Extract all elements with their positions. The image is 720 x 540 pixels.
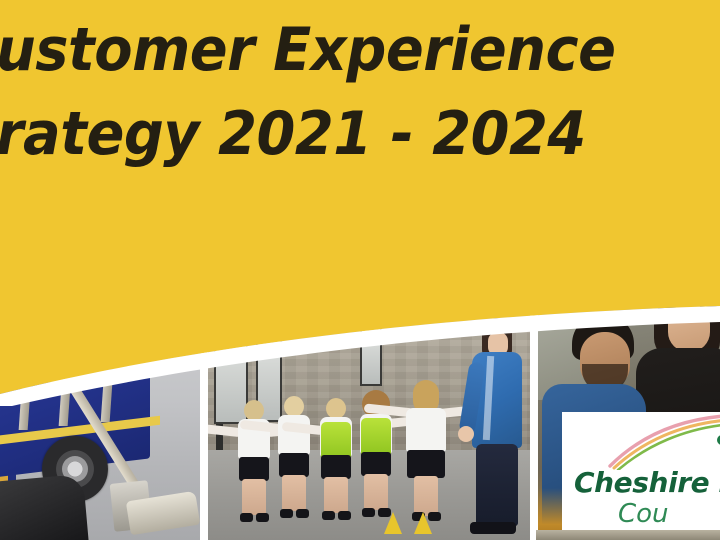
child-shorts (321, 455, 351, 479)
child-shorts (279, 453, 309, 477)
council-swoosh-icon (604, 414, 720, 470)
child-figure (398, 380, 454, 526)
teacher-figure (468, 318, 524, 536)
logo-line-1: Cheshire E (574, 468, 720, 498)
traffic-cone (384, 512, 402, 534)
child-legs (242, 479, 266, 515)
photo-school-children (208, 300, 530, 540)
child-shirt (278, 415, 310, 455)
teacher-shoes (470, 522, 516, 534)
photo-street-cleaning (0, 300, 200, 540)
child-shoe-right (338, 511, 351, 520)
child-shorts (407, 450, 445, 478)
child-head (326, 398, 346, 419)
photo-divider-left (200, 300, 208, 540)
child-shirt (406, 408, 446, 452)
child-legs (282, 475, 306, 511)
cheshire-east-council-logo: Cheshire E Cou (562, 412, 720, 532)
street-cleaner-figure (0, 474, 89, 540)
traffic-cone (414, 512, 432, 534)
child-shorts (239, 457, 269, 481)
child-shoe-right (296, 509, 309, 518)
child-shoe-left (280, 509, 293, 518)
child-shoe-right (256, 513, 269, 522)
child-legs (364, 474, 388, 510)
child-shoe-left (240, 513, 253, 522)
school-window-3 (360, 324, 382, 386)
logo-line-2: Cou (618, 500, 669, 528)
child-shoe-left (362, 508, 375, 517)
woman-face (668, 304, 710, 352)
logo-bottom-strip (536, 530, 720, 540)
teacher-trousers (476, 444, 518, 526)
child-legs (414, 476, 438, 516)
report-cover: ustomer Experience rategy 2021 - 2024 (0, 0, 720, 540)
photo-divider-right (530, 300, 538, 540)
teacher-hand (458, 426, 474, 442)
child-shoe-left (322, 511, 335, 520)
child-head (244, 400, 264, 421)
child-shorts (361, 452, 391, 476)
child-legs (324, 477, 348, 513)
child-head (284, 396, 304, 417)
child-figure (270, 396, 318, 526)
